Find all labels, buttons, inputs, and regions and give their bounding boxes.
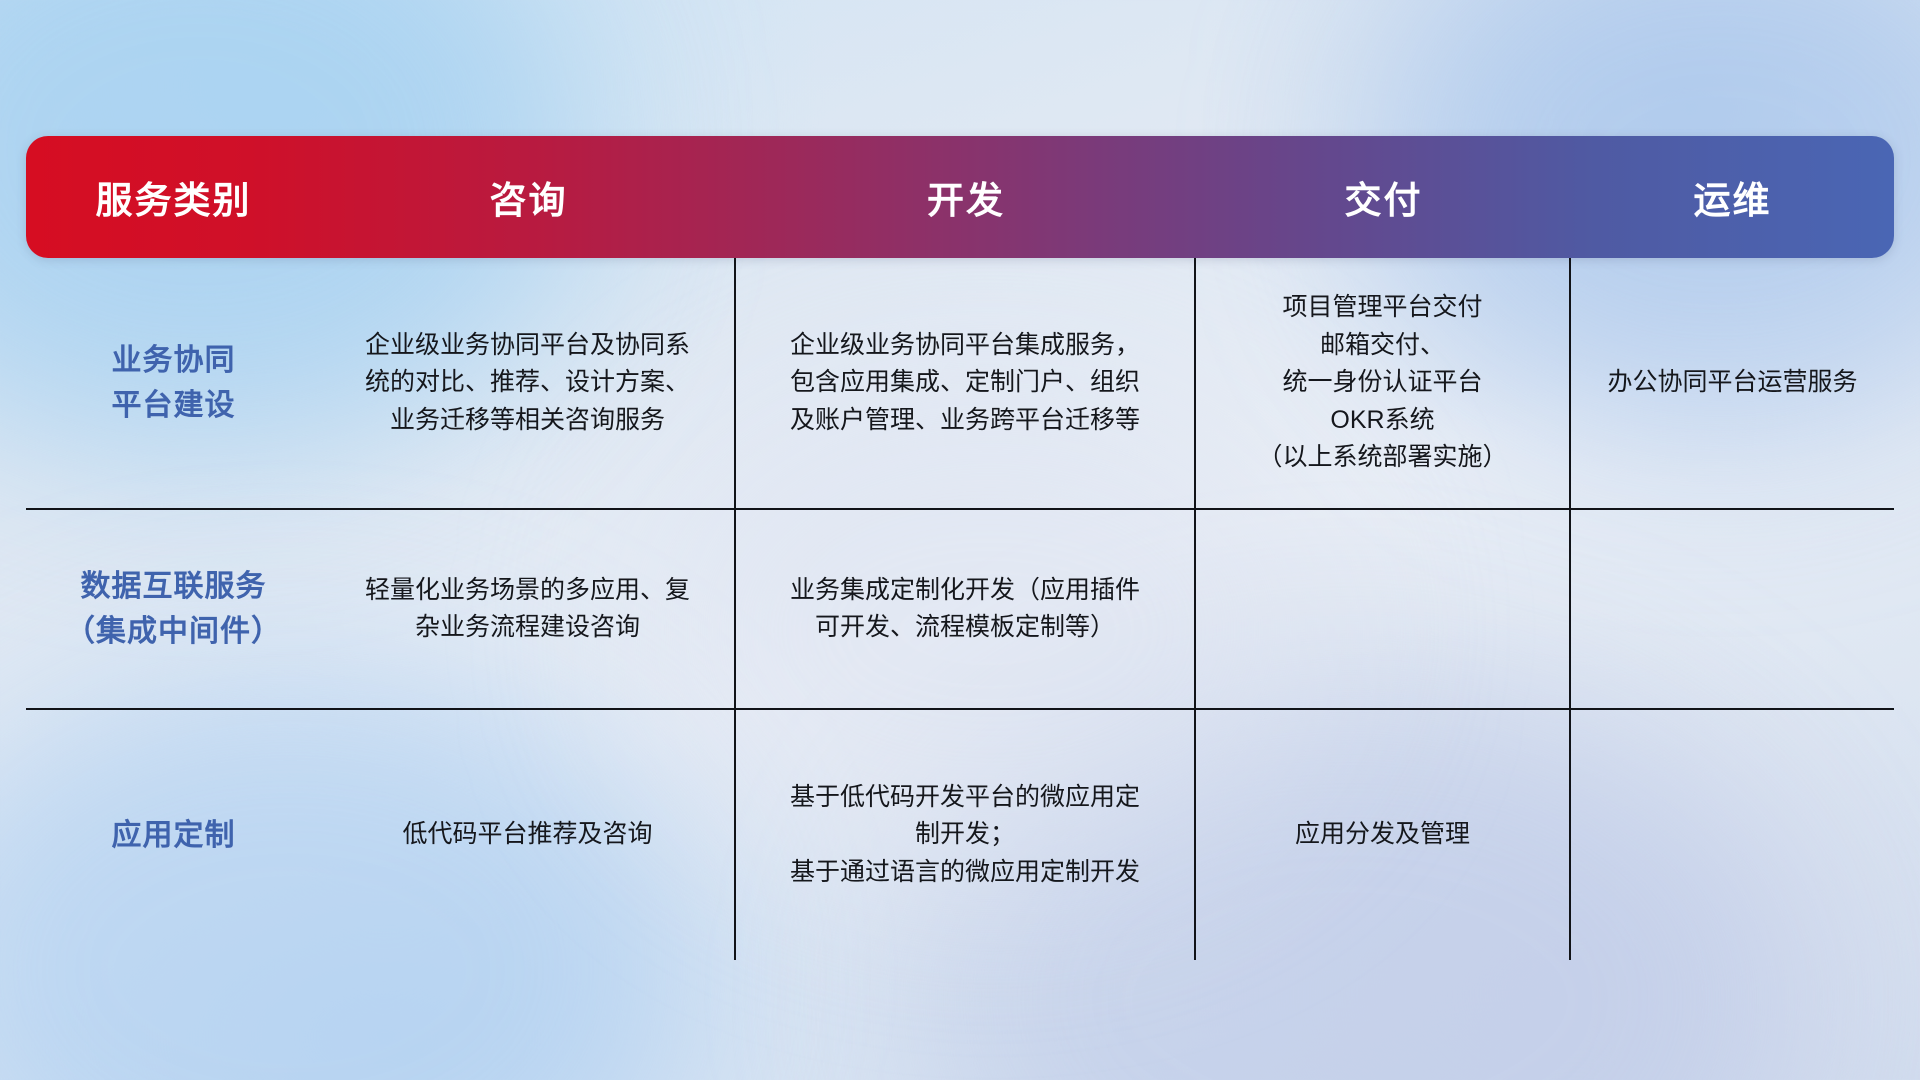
row-category-label: 业务协同 平台建设 (26, 258, 321, 508)
cell-development: 企业级业务协同平台集成服务， 包含应用集成、定制门户、组织 及账户管理、业务跨平… (736, 258, 1196, 508)
cell-delivery: 应用分发及管理 (1196, 710, 1571, 960)
column-header-delivery: 交付 (1196, 170, 1571, 224)
cell-development: 基于低代码开发平台的微应用定 制开发； 基于通过语言的微应用定制开发 (736, 710, 1196, 960)
cell-consulting: 轻量化业务场景的多应用、复 杂业务流程建设咨询 (321, 510, 736, 708)
row-category-label: 应用定制 (26, 710, 321, 960)
cell-operations (1571, 510, 1894, 708)
table-header-row: 服务类别 咨询 开发 交付 运维 (26, 136, 1894, 258)
column-header-development: 开发 (736, 170, 1196, 224)
cell-consulting: 低代码平台推荐及咨询 (321, 710, 736, 960)
column-header-operations: 运维 (1571, 170, 1894, 224)
service-matrix-table: 服务类别 咨询 开发 交付 运维 业务协同 平台建设 企业级业务协同平台及协同系… (26, 136, 1894, 956)
table-row: 业务协同 平台建设 企业级业务协同平台及协同系 统的对比、推荐、设计方案、 业务… (26, 258, 1894, 510)
cell-development: 业务集成定制化开发（应用插件 可开发、流程模板定制等） (736, 510, 1196, 708)
cell-operations (1571, 710, 1894, 960)
column-header-consulting: 咨询 (321, 170, 736, 224)
cell-operations: 办公协同平台运营服务 (1571, 258, 1894, 508)
row-category-label: 数据互联服务 （集成中间件） (26, 510, 321, 708)
column-header-category: 服务类别 (26, 170, 321, 224)
table-row: 数据互联服务 （集成中间件） 轻量化业务场景的多应用、复 杂业务流程建设咨询 业… (26, 510, 1894, 710)
cell-delivery (1196, 510, 1571, 708)
table-body: 业务协同 平台建设 企业级业务协同平台及协同系 统的对比、推荐、设计方案、 业务… (26, 258, 1894, 960)
cell-delivery: 项目管理平台交付 邮箱交付、 统一身份认证平台 OKR系统 （以上系统部署实施） (1196, 258, 1571, 508)
slide-canvas: 服务类别 咨询 开发 交付 运维 业务协同 平台建设 企业级业务协同平台及协同系… (0, 0, 1920, 1080)
table-row: 应用定制 低代码平台推荐及咨询 基于低代码开发平台的微应用定 制开发； 基于通过… (26, 710, 1894, 960)
cell-consulting: 企业级业务协同平台及协同系 统的对比、推荐、设计方案、 业务迁移等相关咨询服务 (321, 258, 736, 508)
